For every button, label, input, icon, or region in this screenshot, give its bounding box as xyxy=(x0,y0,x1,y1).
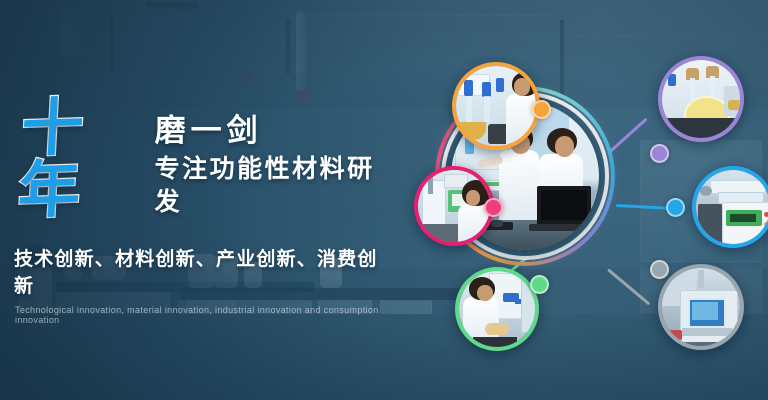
brush-calligraphy-text: 十年 xyxy=(17,94,144,222)
connector-line-bottom-right xyxy=(607,268,650,305)
promo-banner: 十年 磨一剑 专注功能性材料研发 技术创新、材料创新、产业创新、消费创新 Tec… xyxy=(0,0,768,400)
connector-node-bottom-left xyxy=(530,275,549,294)
connector-node-left xyxy=(484,198,503,217)
satellite-photo-top-left xyxy=(452,62,540,150)
connector-node-top-right xyxy=(650,144,669,163)
connector-node-top-left xyxy=(532,100,551,119)
satellite-photo-left xyxy=(414,166,494,246)
satellite-photo-bottom-left xyxy=(455,267,539,351)
connector-node-right xyxy=(666,198,685,217)
connector-node-bottom-right xyxy=(650,260,669,279)
satellite-photo-top-right xyxy=(658,56,744,142)
slogan-chinese: 技术创新、材料创新、产业创新、消费创新 xyxy=(14,244,388,298)
headline-block: 十年 磨一剑 专注功能性材料研发 技术创新、材料创新、产业创新、消费创新 Tec… xyxy=(8,96,388,325)
connector-line-right xyxy=(616,204,672,210)
slogan-english: Technological innovation, material innov… xyxy=(15,305,388,325)
headline-line-bottom: 专注功能性材料研发 xyxy=(155,153,388,218)
circle-composition xyxy=(400,24,768,400)
headline-line-top: 磨一剑 xyxy=(155,113,388,149)
satellite-photo-right xyxy=(692,166,768,248)
satellite-photo-bottom-right xyxy=(658,264,744,350)
